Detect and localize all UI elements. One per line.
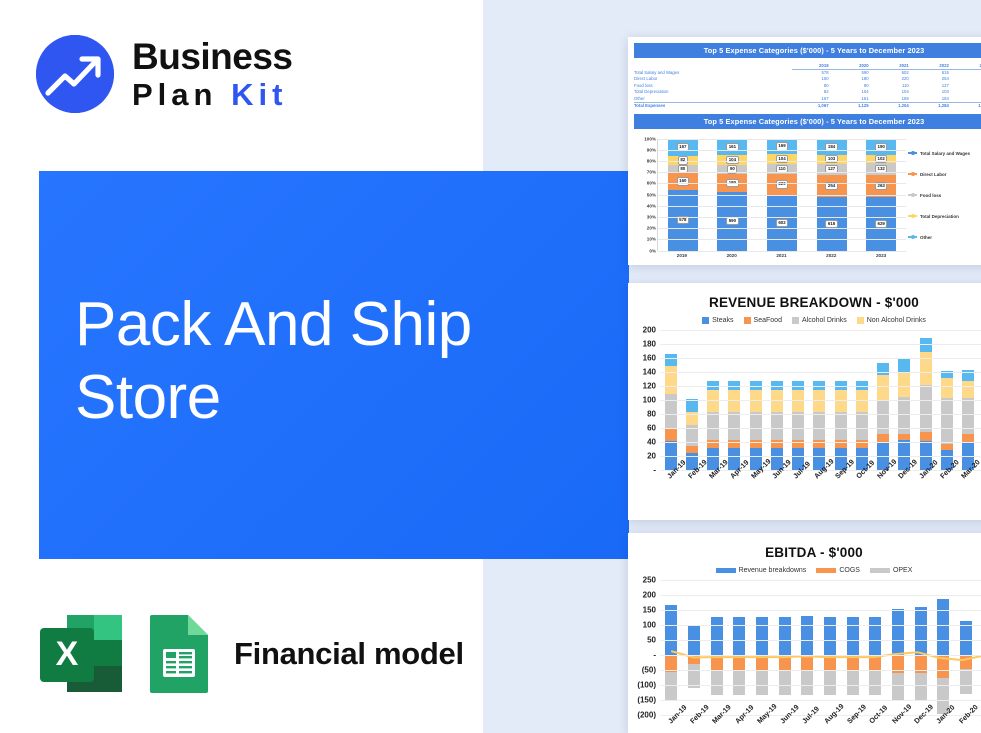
- bar-value-label: 602: [776, 219, 788, 227]
- legend-label: Alcohol Drinks: [802, 317, 847, 324]
- legend-item[interactable]: COGS: [816, 567, 860, 574]
- microsoft-excel-icon: X: [38, 613, 124, 695]
- bar-segment: [847, 655, 859, 671]
- table-row: Other167161169184190: [634, 96, 981, 103]
- bar-segment: [756, 671, 768, 696]
- bar-column: [932, 580, 955, 715]
- bar-segment: [813, 390, 825, 412]
- bar-stack-positive: [962, 370, 974, 470]
- bar-segment: 190: [866, 139, 896, 155]
- bar-stack-negative: [824, 655, 836, 695]
- gridline: [660, 610, 981, 611]
- expense-x-axis: 20192020202120222023: [657, 253, 906, 258]
- gridline: [660, 640, 981, 641]
- bar-value-label: 104: [726, 156, 738, 164]
- gridline: [658, 251, 906, 252]
- slide-canvas: Business Plan Kit Pack And Ship Store X: [0, 0, 981, 733]
- bar-segment: [733, 655, 745, 671]
- legend-label: OPEX: [893, 567, 912, 574]
- axis-tick: 200: [643, 591, 656, 600]
- format-badges: X Financial model: [38, 613, 464, 695]
- bar-segment: 169: [767, 139, 797, 155]
- axis-tick: 20%: [647, 226, 656, 231]
- axis-tick: 100%: [644, 136, 656, 141]
- bar-segment: [960, 669, 972, 695]
- growth-arrow-circle-icon: [36, 35, 114, 113]
- format-label: Financial model: [234, 636, 464, 672]
- legend-item[interactable]: OPEX: [870, 567, 912, 574]
- bar-column: [728, 580, 751, 715]
- revenue-plot-wrap: 20018016014012010080604020- Jan-19Feb-19…: [628, 330, 981, 500]
- legend-swatch-icon: [702, 317, 709, 324]
- axis-tick: 40: [647, 438, 656, 447]
- bar-segment: [920, 432, 932, 440]
- bar-segment: [962, 381, 974, 398]
- table-cell: 167: [792, 96, 832, 103]
- bar-column: [683, 580, 706, 715]
- bar-stack-positive: [733, 617, 745, 655]
- bar-segment: 161: [717, 139, 747, 155]
- bar-segment: [665, 605, 677, 655]
- brand-kit: Kit: [231, 77, 287, 112]
- axis-tick: -: [653, 651, 656, 660]
- axis-tick: 2022: [816, 253, 846, 258]
- bar-segment: 602: [767, 195, 797, 251]
- chart-card-revenue-breakdown[interactable]: REVENUE BREAKDOWN - $'000 SteaksSeaFoodA…: [628, 283, 981, 520]
- legend-item: Direct Labor: [908, 164, 981, 185]
- bar-segment: 220: [767, 174, 797, 194]
- legend-marker-icon: [908, 236, 917, 238]
- bar-segment: [707, 412, 719, 440]
- bar-column: [819, 580, 842, 715]
- bar-segment: [937, 599, 949, 655]
- gridline: [660, 386, 981, 387]
- expense-stacked-chart: 100%90%80%70%60%50%40%30%20%10%0% 167828…: [630, 133, 981, 265]
- bar-segment: [892, 673, 904, 700]
- bar-segment: 104: [767, 154, 797, 164]
- axis-tick: 100: [643, 396, 656, 405]
- bar-stack-negative: [869, 655, 881, 695]
- bar-segment: [750, 412, 762, 440]
- gridline: [658, 239, 906, 240]
- axis-tick: 160: [643, 354, 656, 363]
- legend-item: Food loss: [908, 185, 981, 206]
- bar-stack-negative: [960, 655, 972, 694]
- gridline: [660, 595, 981, 596]
- legend-marker-icon: [908, 173, 917, 175]
- table-total-row: Total Expenses1,0671,1251,2041,2841,316: [634, 103, 981, 110]
- axis-tick: 2023: [866, 253, 896, 258]
- axis-tick: 250: [643, 576, 656, 585]
- legend-marker-icon: [908, 152, 917, 154]
- bar-segment: [877, 363, 889, 375]
- bar-segment: [711, 655, 723, 671]
- expense-banner-title-2: Top 5 Expense Categories ($'000) - 5 Yea…: [634, 114, 981, 129]
- gridline: [660, 442, 981, 443]
- axis-tick: 50%: [647, 192, 656, 197]
- legend-item[interactable]: Non Alcohol Drinks: [857, 317, 926, 324]
- expense-table: 20192020202120222023 Total Salary and Wa…: [634, 63, 981, 110]
- axis-tick: 10%: [647, 237, 656, 242]
- bar-segment: [856, 412, 868, 440]
- bar-stack-positive: [779, 617, 791, 655]
- row-label: Other: [634, 96, 792, 103]
- bar-segment: [920, 385, 932, 433]
- bar-segment: [824, 671, 836, 696]
- table-cell: 578: [792, 70, 832, 77]
- expense-legend: Total Salary and WagesDirect LaborFood l…: [908, 143, 981, 248]
- bar-stack-positive: [847, 617, 859, 655]
- bar-segment: 103: [817, 155, 847, 164]
- bar-segment: [869, 671, 881, 696]
- bar-segment: [771, 390, 783, 412]
- bar-value-label: 615: [825, 220, 837, 228]
- bar-segment: 167: [668, 139, 698, 157]
- ebitda-chart-title: EBITDA - $'000: [628, 545, 981, 560]
- axis-tick: 2021: [766, 253, 796, 258]
- axis-tick: 80: [647, 410, 656, 419]
- sheets-glyph: [146, 613, 212, 695]
- bar-stack-negative: [688, 655, 700, 688]
- bar-segment: 102: [866, 155, 896, 164]
- bar-segment: [915, 607, 927, 655]
- bar-stack-negative: [779, 655, 791, 695]
- legend-item[interactable]: Steaks: [702, 317, 733, 324]
- gridline: [658, 172, 906, 173]
- axis-tick: 70%: [647, 170, 656, 175]
- bar-stack-positive: [686, 399, 698, 470]
- bar-stack-positive: [801, 616, 813, 655]
- bar-column: [773, 580, 796, 715]
- table-cell: 1,204: [872, 103, 912, 110]
- legend-item[interactable]: Revenue breakdowns: [716, 567, 807, 574]
- bar-column: [909, 580, 932, 715]
- axis-tick: 30%: [647, 215, 656, 220]
- legend-item[interactable]: SeaFood: [744, 317, 782, 324]
- bar-segment: [771, 412, 783, 440]
- gridline: [660, 670, 981, 671]
- bar-segment: [801, 655, 813, 671]
- gridline: [660, 330, 981, 331]
- axis-tick: 100: [643, 621, 656, 630]
- axis-tick: 150: [643, 606, 656, 615]
- legend-swatch-icon: [792, 317, 799, 324]
- legend-swatch-icon: [870, 568, 890, 573]
- gridline: [660, 715, 981, 716]
- ebitda-plot-area: [660, 580, 981, 715]
- table-cell: 184: [912, 96, 952, 103]
- bar-segment: 578: [668, 190, 698, 251]
- brand-line-1: Business: [132, 38, 293, 75]
- legend-item: Total Salary and Wages: [908, 143, 981, 164]
- gridline: [660, 428, 981, 429]
- row-label: Total Expenses: [634, 103, 792, 110]
- bar-segment: [941, 378, 953, 398]
- bar-segment: [665, 672, 677, 701]
- axis-tick: 2020: [717, 253, 747, 258]
- chart-card-expense-categories[interactable]: Top 5 Expense Categories ($'000) - 5 Yea…: [628, 37, 981, 265]
- legend-marker-icon: [908, 215, 917, 217]
- axis-tick: 60%: [647, 181, 656, 186]
- table-cell: 590: [832, 70, 872, 77]
- legend-item: Total Depreciation: [908, 206, 981, 227]
- bar-stack-negative: [847, 655, 859, 695]
- revenue-legend: SteaksSeaFoodAlcohol DrinksNon Alcohol D…: [628, 317, 981, 324]
- gridline: [658, 161, 906, 162]
- bar-value-label: 629: [875, 220, 887, 228]
- gridline: [658, 228, 906, 229]
- bar-column: [705, 580, 728, 715]
- gridline: [660, 685, 981, 686]
- chart-card-ebitda[interactable]: EBITDA - $'000 Revenue breakdownsCOGSOPE…: [628, 533, 981, 733]
- axis-tick: 0%: [649, 248, 656, 253]
- revenue-plot-area: [660, 330, 981, 470]
- bar-column: [977, 580, 981, 715]
- ebitda-legend: Revenue breakdownsCOGSOPEX: [628, 567, 981, 574]
- gridline: [658, 183, 906, 184]
- legend-marker-icon: [908, 194, 917, 196]
- axis-tick: (100): [637, 681, 656, 690]
- table-cell: 190: [952, 96, 981, 103]
- bar-segment: 590: [717, 192, 747, 251]
- bar-segment: [877, 375, 889, 401]
- axis-tick: 80%: [647, 159, 656, 164]
- bar-segment: 160: [668, 173, 698, 190]
- bar-column: [955, 580, 978, 715]
- table-cell: 161: [832, 96, 872, 103]
- bar-segment: [835, 412, 847, 440]
- bar-segment: [711, 617, 723, 655]
- bar-segment: [892, 609, 904, 655]
- bar-segment: [869, 617, 881, 655]
- bar-segment: [779, 655, 791, 671]
- brand-plan: Plan: [132, 77, 217, 112]
- bar-segment: [711, 671, 723, 696]
- growth-arrow-glyph: [36, 35, 114, 113]
- gridline: [658, 195, 906, 196]
- bar-segment: [792, 412, 804, 440]
- bar-segment: [960, 621, 972, 655]
- ebitda-bars: [660, 580, 981, 715]
- bar-stack-positive: [960, 621, 972, 655]
- axis-tick: 40%: [647, 203, 656, 208]
- revenue-chart-title: REVENUE BREAKDOWN - $'000: [628, 295, 981, 310]
- excel-glyph: X: [38, 613, 124, 695]
- table-cell: 169: [872, 96, 912, 103]
- brand-wordmark: Business Plan Kit: [132, 38, 293, 110]
- bar-segment: [801, 671, 813, 696]
- brand-line-2: Plan Kit: [132, 79, 293, 110]
- bar-stack-negative: [711, 655, 723, 695]
- bar-segment: [688, 655, 700, 664]
- table-cell: 1,284: [912, 103, 952, 110]
- bar-segment: [960, 655, 972, 669]
- bar-segment: [915, 673, 927, 700]
- gridline: [660, 580, 981, 581]
- bar-segment: 254: [817, 175, 847, 197]
- axis-tick: 90%: [647, 147, 656, 152]
- axis-tick: (50): [642, 666, 656, 675]
- axis-tick: 60: [647, 424, 656, 433]
- table-cell: 602: [872, 70, 912, 77]
- bar-stack-negative: [801, 655, 813, 695]
- bar-segment: [779, 617, 791, 655]
- gridline: [658, 206, 906, 207]
- legend-label: Revenue breakdowns: [739, 567, 807, 574]
- gridline: [660, 655, 981, 656]
- bar-stack-negative: [665, 655, 677, 701]
- bar-segment: [707, 390, 719, 412]
- bar-segment: [937, 655, 949, 678]
- gridline: [658, 139, 906, 140]
- bar-stack-negative: [756, 655, 768, 695]
- bar-stack-positive: [824, 617, 836, 655]
- bar-column: [864, 580, 887, 715]
- bar-column: [887, 580, 910, 715]
- expense-plot-area: 1678280160578161104901805901691041102206…: [657, 139, 906, 251]
- bar-segment: [877, 401, 889, 435]
- gridline: [660, 344, 981, 345]
- legend-label: Total Depreciation: [920, 214, 959, 219]
- bar-segment: [824, 617, 836, 655]
- gridline: [660, 358, 981, 359]
- table-cell: 1,316: [952, 103, 981, 110]
- bar-column: [796, 580, 819, 715]
- legend-label: Steaks: [712, 317, 733, 324]
- bar-segment: [665, 354, 677, 366]
- brand-logo: Business Plan Kit: [36, 35, 293, 113]
- bar-value-label: 220: [776, 180, 788, 188]
- bar-segment: [847, 671, 859, 696]
- gridline: [658, 217, 906, 218]
- legend-swatch-icon: [816, 568, 836, 573]
- legend-label: Other: [920, 235, 932, 240]
- table-cell: 1,125: [832, 103, 872, 110]
- bar-segment: [847, 617, 859, 655]
- legend-swatch-icon: [716, 568, 736, 573]
- legend-label: Direct Labor: [920, 172, 947, 177]
- axis-tick: -: [653, 466, 656, 475]
- bar-stack-positive: [869, 617, 881, 655]
- legend-item[interactable]: Alcohol Drinks: [792, 317, 847, 324]
- bar-segment: [750, 390, 762, 412]
- axis-tick: 120: [643, 382, 656, 391]
- bar-segment: [835, 390, 847, 412]
- legend-label: Food loss: [920, 193, 941, 198]
- axis-tick: 2019: [667, 253, 697, 258]
- legend-label: Total Salary and Wages: [920, 151, 970, 156]
- bar-stack-positive: [937, 599, 949, 655]
- bar-segment: [824, 655, 836, 671]
- bar-segment: [728, 390, 740, 412]
- expense-banner-title: Top 5 Expense Categories ($'000) - 5 Yea…: [634, 43, 981, 58]
- bar-stack-positive: [915, 607, 927, 655]
- bar-segment: [756, 617, 768, 655]
- legend-label: Non Alcohol Drinks: [867, 317, 926, 324]
- axis-tick: (150): [637, 696, 656, 705]
- bar-segment: [733, 617, 745, 655]
- bar-column: [841, 580, 864, 715]
- gridline: [658, 150, 906, 151]
- bar-stack-positive: [892, 609, 904, 655]
- legend-swatch-icon: [857, 317, 864, 324]
- axis-tick: (200): [637, 711, 656, 720]
- axis-tick: 200: [643, 326, 656, 335]
- bar-segment: [779, 671, 791, 696]
- axis-tick: 20: [647, 452, 656, 461]
- bar-stack-positive: [877, 363, 889, 470]
- bar-stack-positive: [711, 617, 723, 655]
- gridline: [660, 414, 981, 415]
- expense-y-axis: 100%90%80%70%60%50%40%30%20%10%0%: [632, 139, 656, 251]
- page-title: Pack And Ship Store: [75, 288, 595, 434]
- table-cell: 629: [952, 70, 981, 77]
- axis-tick: 140: [643, 368, 656, 377]
- bar-stack-negative: [733, 655, 745, 695]
- bar-stack-positive: [665, 605, 677, 655]
- legend-item: Other: [908, 227, 981, 248]
- bar-segment: [920, 338, 932, 352]
- bar-segment: 184: [817, 139, 847, 155]
- axis-tick: 50: [647, 636, 656, 645]
- svg-text:X: X: [56, 635, 79, 673]
- gridline: [660, 700, 981, 701]
- bar-column: [660, 580, 683, 715]
- bar-segment: [856, 390, 868, 412]
- bar-segment: 104: [717, 155, 747, 165]
- bar-value-label: 590: [726, 217, 738, 225]
- axis-tick: 180: [643, 340, 656, 349]
- bar-segment: [941, 398, 953, 444]
- legend-swatch-icon: [744, 317, 751, 324]
- bar-segment: [813, 412, 825, 440]
- bar-segment: [686, 399, 698, 412]
- gridline: [660, 625, 981, 626]
- bar-segment: [756, 655, 768, 671]
- bar-segment: [869, 655, 881, 671]
- bar-stack-negative: [915, 655, 927, 700]
- table-body: Total Salary and Wages578590602615629Dir…: [634, 70, 981, 110]
- bar-column: [751, 580, 774, 715]
- gridline: [660, 400, 981, 401]
- google-sheets-icon: [146, 613, 212, 695]
- row-label: Total Salary and Wages: [634, 70, 792, 77]
- table-cell: 615: [912, 70, 952, 77]
- bar-segment: [665, 429, 677, 441]
- bar-segment: [733, 671, 745, 696]
- legend-label: SeaFood: [754, 317, 782, 324]
- table-row: Total Salary and Wages578590602615629: [634, 70, 981, 77]
- gridline: [660, 372, 981, 373]
- table-cell: 1,067: [792, 103, 832, 110]
- bar-segment: [728, 412, 740, 440]
- legend-label: COGS: [839, 567, 860, 574]
- bar-segment: [665, 366, 677, 395]
- ebitda-plot-wrap: 25020015010050-(50)(100)(150)(200) Jan-1…: [628, 580, 981, 730]
- bar-segment: [792, 390, 804, 412]
- bar-segment: [801, 616, 813, 655]
- bar-stack-negative: [892, 655, 904, 700]
- bar-stack-positive: [756, 617, 768, 655]
